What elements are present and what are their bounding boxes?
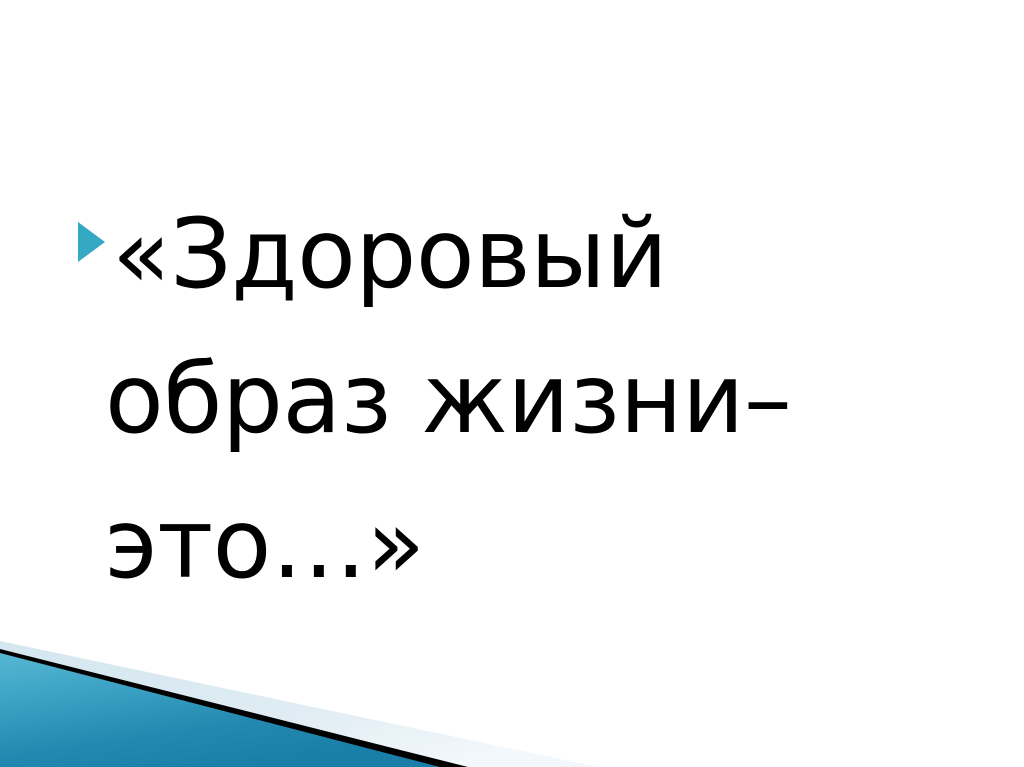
deco-blue-triangle: [0, 653, 440, 767]
triangle-right-bullet-icon: [78, 222, 105, 262]
text-line-1: «Здоровый: [78, 182, 978, 327]
text-line-2: образ жизни–: [78, 327, 978, 472]
deco-black-stripe: [0, 649, 468, 767]
slide-body-text-block[interactable]: «Здоровый образ жизни– это…»: [78, 182, 978, 617]
text-line-3: это…»: [78, 472, 978, 617]
bullet-row: «Здоровый образ жизни– это…»: [78, 182, 978, 617]
bottom-diagonal-band: [0, 627, 1024, 767]
text-lines: «Здоровый образ жизни– это…»: [78, 182, 978, 617]
deco-pale-wedge: [0, 641, 598, 767]
slide: «Здоровый образ жизни– это…»: [0, 0, 1024, 767]
